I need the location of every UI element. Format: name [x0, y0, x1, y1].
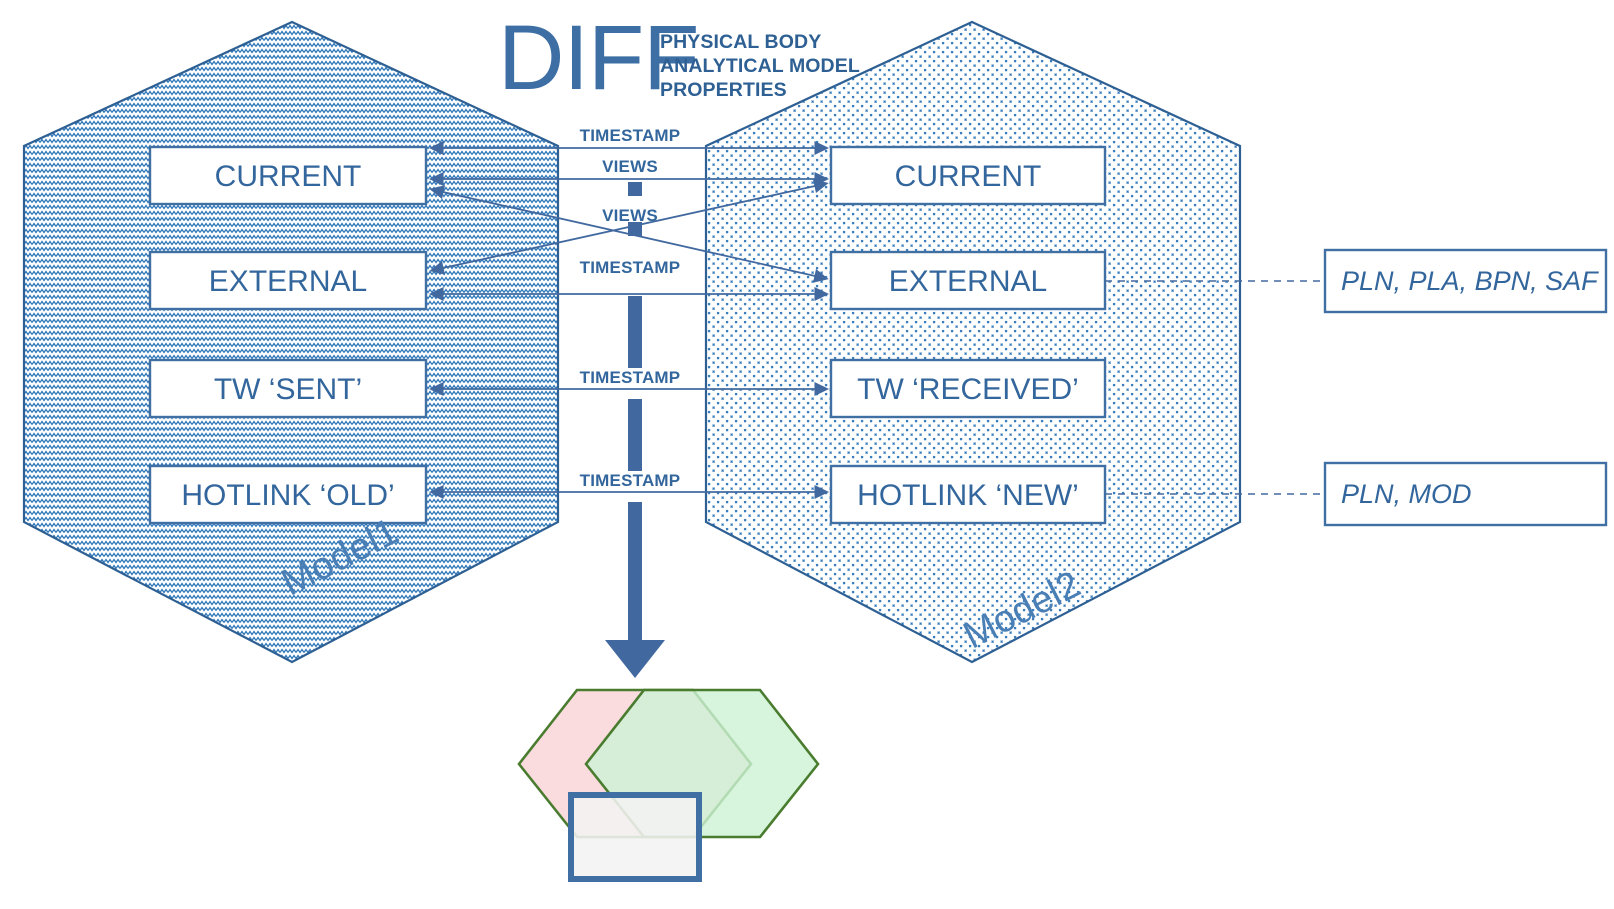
- node-box-right-hotlink: [831, 466, 1105, 523]
- node-box-left-hotlink: [150, 466, 426, 523]
- result-arrow-head: [605, 640, 665, 678]
- diff-diagram-svg: [0, 0, 1614, 909]
- venn-result-box: [571, 795, 699, 879]
- left-model-hexagon[interactable]: [24, 22, 558, 662]
- callout-box-hotlink: [1325, 463, 1606, 525]
- diagram-canvas: DIFF PHYSICAL BODY ANALYTICAL MODEL PROP…: [0, 0, 1614, 909]
- callout-boxes[interactable]: [1325, 250, 1606, 525]
- node-box-left-current: [150, 147, 426, 204]
- result-venn[interactable]: [519, 690, 818, 879]
- right-model-hexagon[interactable]: [706, 22, 1240, 662]
- node-box-right-current: [831, 147, 1105, 204]
- node-box-right-external: [831, 252, 1105, 309]
- node-box-left-tw: [150, 360, 426, 417]
- callout-box-external: [1325, 250, 1606, 312]
- result-flow-arrow: [605, 182, 665, 678]
- node-box-left-external: [150, 252, 426, 309]
- node-box-right-tw: [831, 360, 1105, 417]
